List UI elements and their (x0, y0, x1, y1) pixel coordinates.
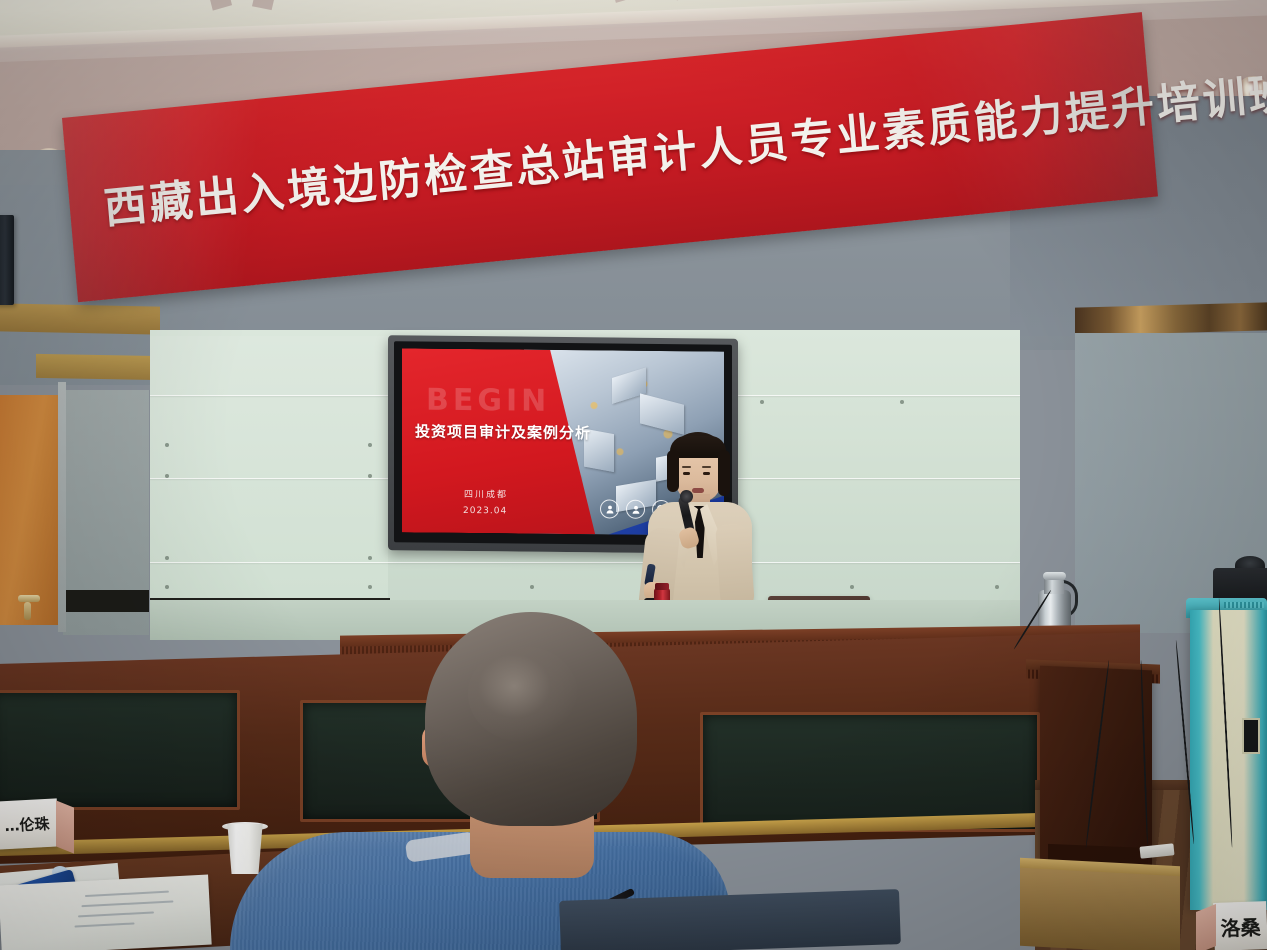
panel-fastener (165, 443, 169, 447)
slide-title: 投资项目审计及案例分析 (415, 420, 591, 443)
panel-fastener (530, 585, 534, 589)
door-recess-shadow (63, 590, 149, 612)
presenter-eyebrow (682, 466, 691, 468)
red-thermos-cap (655, 583, 669, 590)
door-lock-icon (24, 602, 31, 620)
presenter-arm-right (715, 523, 755, 609)
cabinet-vent (1224, 602, 1264, 608)
door-frame (58, 382, 66, 632)
panel-fastener (368, 556, 372, 560)
presenter-eye (703, 472, 710, 475)
door[interactable] (0, 395, 61, 625)
panel-fastener (760, 400, 764, 404)
carafe-lid (1043, 572, 1066, 580)
presenter-hair-side (718, 450, 730, 496)
panel-fastener (368, 474, 372, 478)
notebook-line (85, 891, 169, 897)
table-namecard-right-text: 洛桑 (1220, 911, 1261, 941)
panel-fastener (165, 474, 169, 478)
panel-fastener (368, 443, 372, 447)
attendee-tablet-surface (559, 889, 901, 950)
event-banner: 西藏出入境边防检查总站审计人员专业素质能力提升培训班 (62, 118, 1147, 358)
table-namecard-left-side (56, 800, 74, 853)
notebook-line (75, 922, 135, 927)
stage-side (1020, 868, 1180, 950)
slide-cube (640, 393, 684, 434)
panel-fastener (900, 400, 904, 404)
table-namecard-right-side (1196, 904, 1216, 950)
table-namecard-right: 洛桑 (1213, 901, 1267, 950)
table-namecard-left-text: …伦珠 (4, 812, 50, 835)
speaker-icon (0, 215, 14, 305)
panel-fastener (995, 585, 999, 589)
presenter-eyebrow (702, 466, 711, 468)
attendee-hair-whorl (468, 646, 578, 742)
table-namecard-left: …伦珠 (0, 798, 59, 849)
banner-title: 西藏出入境边防检查总站审计人员专业素质能力提升培训班 (101, 75, 1122, 236)
presenter-mouth (692, 488, 704, 493)
cabinet-port (1242, 718, 1260, 754)
presenter-hair-side (667, 450, 679, 492)
panel-fastener (165, 585, 169, 589)
slide-watermark: BEGIN (426, 383, 550, 419)
panel-fastener (850, 585, 854, 589)
panel-fastener (165, 556, 169, 560)
person-icon (600, 499, 619, 518)
conference-room-photo: 西藏出入境边防检查总站审计人员专业素质能力提升培训班 BEGIN 投资项目审计及… (0, 0, 1267, 950)
door-handle[interactable] (18, 595, 40, 602)
wall-panel-mint-left (150, 336, 388, 636)
panel-fastener (368, 585, 372, 589)
notebook-line (81, 900, 173, 906)
slide-date: 2023.04 (463, 506, 507, 516)
wall-panel-seam (150, 562, 1020, 563)
slide-location: 四川成都 (464, 487, 508, 500)
notebook-line (78, 911, 154, 916)
presenter-eye (683, 472, 690, 475)
notebook[interactable] (0, 875, 212, 950)
